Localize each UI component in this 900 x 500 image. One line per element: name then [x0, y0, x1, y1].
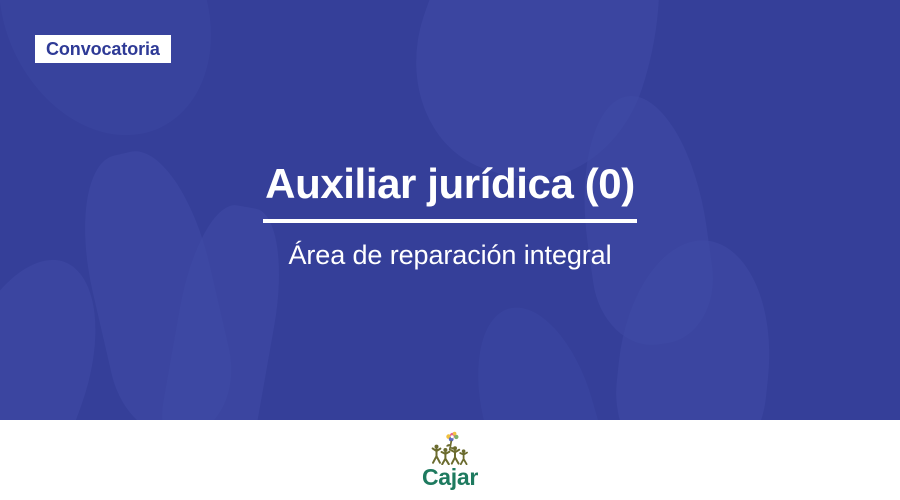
page-title: Auxiliar jurídica (0) [265, 162, 635, 206]
title-underline-rule [263, 219, 637, 223]
footer-bar: Cajar [0, 420, 900, 500]
hero-background: Convocatoria Auxiliar jurídica (0) Área … [0, 0, 900, 420]
convocatoria-banner: Convocatoria Auxiliar jurídica (0) Área … [0, 0, 900, 500]
cajar-figures-flower-logo-icon [427, 431, 473, 465]
cajar-wordmark: Cajar [422, 466, 478, 489]
hero-text-block: Auxiliar jurídica (0) Área de reparación… [0, 0, 900, 420]
page-subtitle: Área de reparación integral [288, 241, 611, 271]
